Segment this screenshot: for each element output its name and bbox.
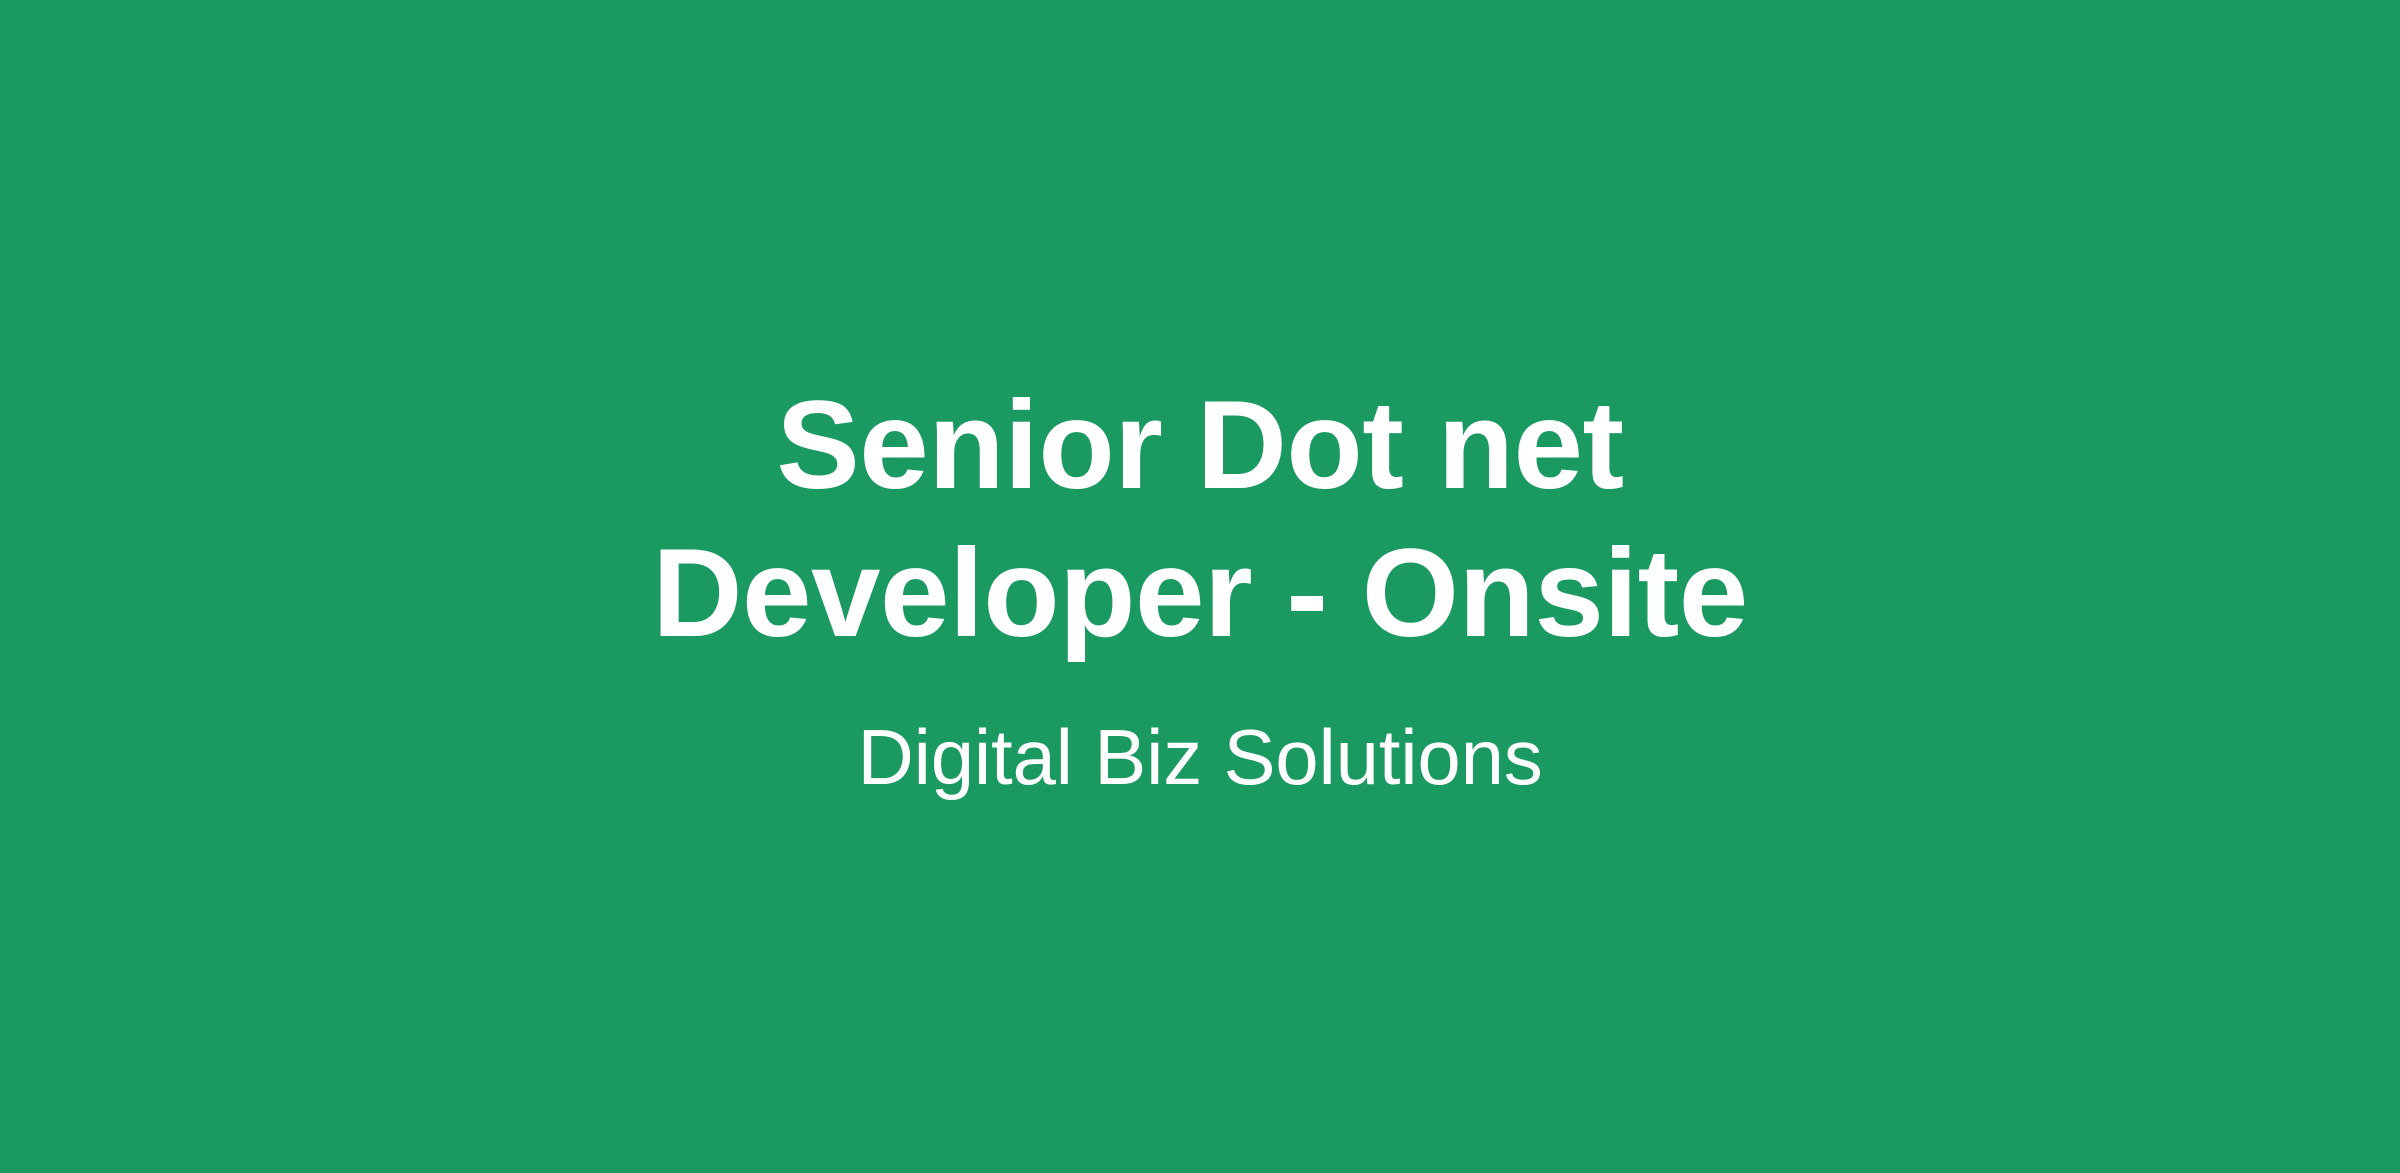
company-name: Digital Biz Solutions	[857, 713, 1542, 803]
banner-text-block: Senior Dot net Developer - Onsite Digita…	[470, 372, 1930, 803]
job-posting-banner: Senior Dot net Developer - Onsite Digita…	[0, 0, 2400, 1173]
job-title: Senior Dot net Developer - Onsite	[480, 372, 1920, 667]
